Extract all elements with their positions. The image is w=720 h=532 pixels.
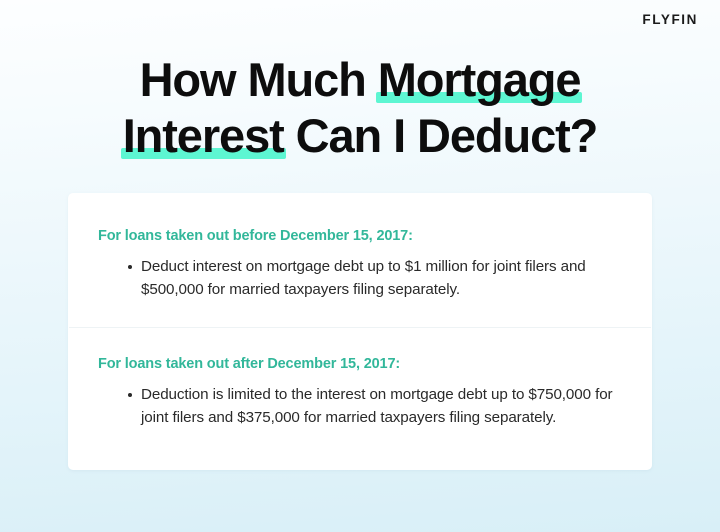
slide-canvas: FLYFIN How Much Mortgage Interest Can I … [0, 0, 720, 532]
title-line-2: Interest Can I Deduct? [0, 108, 720, 164]
title-highlight-interest: Interest [123, 108, 284, 164]
section-heading-before: For loans taken out before December 15, … [98, 226, 622, 246]
title-highlight-mortgage: Mortgage [378, 52, 581, 108]
bullet-list-before: Deduct interest on mortgage debt up to $… [98, 256, 622, 301]
content-card: For loans taken out before December 15, … [68, 193, 652, 470]
title-line-1-plain: How Much [140, 53, 378, 106]
section-after-2017: For loans taken out after December 15, 2… [68, 328, 652, 429]
title-line-2-plain: Can I Deduct? [284, 109, 598, 162]
section-before-2017: For loans taken out before December 15, … [68, 193, 652, 327]
section-heading-after: For loans taken out after December 15, 2… [98, 354, 622, 374]
flyfin-logo: FLYFIN [642, 13, 698, 27]
list-item: Deduction is limited to the interest on … [98, 384, 622, 429]
title-line-1: How Much Mortgage [0, 52, 720, 108]
list-item: Deduct interest on mortgage debt up to $… [98, 256, 622, 301]
bullet-list-after: Deduction is limited to the interest on … [98, 384, 622, 429]
page-title: How Much Mortgage Interest Can I Deduct? [0, 52, 720, 164]
